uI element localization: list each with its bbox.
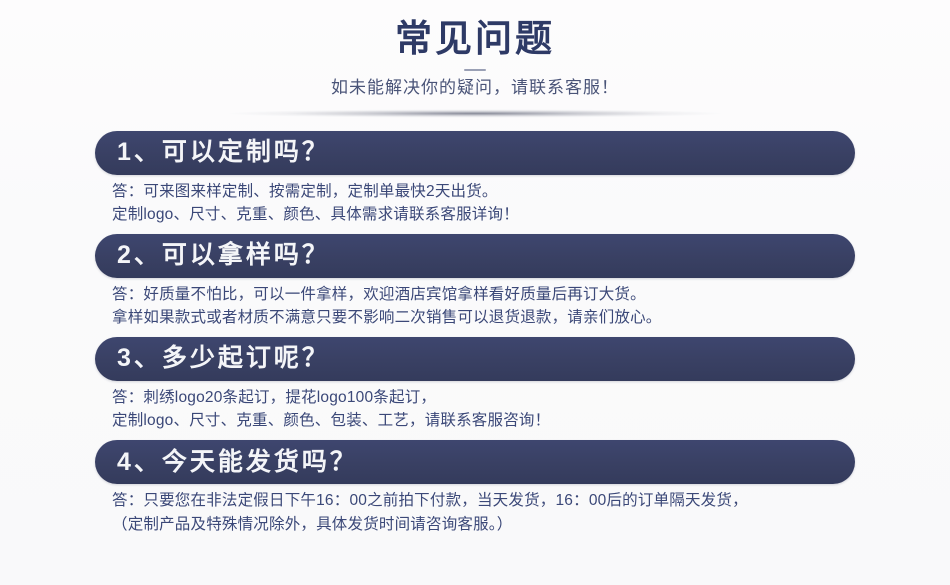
faq-answer-line: 定制logo、尺寸、克重、颜色、包装、工艺，请联系客服咨询！	[112, 409, 855, 433]
faq-answer: 答：刺绣logo20条起订，提花logo100条起订， 定制logo、尺寸、克重…	[95, 381, 855, 433]
faq-answer-line: 答：可来图来样定制、按需定制，定制单最快2天出货。	[112, 180, 855, 204]
faq-answer: 答：可来图来样定制、按需定制，定制单最快2天出货。 定制logo、尺寸、克重、颜…	[95, 175, 855, 227]
faq-list: 1、可以定制吗？ 答：可来图来样定制、按需定制，定制单最快2天出货。 定制log…	[0, 131, 950, 536]
faq-page: 常见问题 如未能解决你的疑问，请联系客服！ 1、可以定制吗？ 答：可来图来样定制…	[0, 0, 950, 585]
faq-answer-line: （定制产品及特殊情况除外，具体发货时间请咨询客服。）	[112, 513, 855, 537]
faq-question-text: 3、多少起订呢？	[117, 346, 330, 371]
faq-item: 4、今天能发货吗？ 答：只要您在非法定假日下午16：00之前拍下付款，当天发货，…	[95, 440, 855, 536]
faq-answer: 答：只要您在非法定假日下午16：00之前拍下付款，当天发货，16：00后的订单隔…	[95, 484, 855, 536]
faq-question-bar[interactable]: 4、今天能发货吗？	[95, 440, 855, 484]
title-divider-dash	[464, 69, 486, 71]
faq-item: 1、可以定制吗？ 答：可来图来样定制、按需定制，定制单最快2天出货。 定制log…	[95, 131, 855, 227]
faq-question-text: 1、可以定制吗？	[117, 140, 330, 165]
faq-item: 3、多少起订呢？ 答：刺绣logo20条起订，提花logo100条起订， 定制l…	[95, 337, 855, 433]
faq-question-bar[interactable]: 1、可以定制吗？	[95, 131, 855, 175]
faq-question-bar[interactable]: 3、多少起订呢？	[95, 337, 855, 381]
faq-answer-line: 答：刺绣logo20条起订，提花logo100条起订，	[112, 386, 855, 410]
page-header: 常见问题 如未能解决你的疑问，请联系客服！	[0, 0, 950, 118]
header-divider-line	[165, 109, 785, 118]
faq-answer-line: 拿样如果款式或者材质不满意只要不影响二次销售可以退货退款，请亲们放心。	[112, 306, 855, 330]
faq-answer-line: 定制logo、尺寸、克重、颜色、具体需求请联系客服详询！	[112, 203, 855, 227]
faq-item: 2、可以拿样吗？ 答：好质量不怕比，可以一件拿样，欢迎酒店宾馆拿样看好质量后再订…	[95, 234, 855, 330]
faq-answer-line: 答：好质量不怕比，可以一件拿样，欢迎酒店宾馆拿样看好质量后再订大货。	[112, 283, 855, 307]
page-subtitle: 如未能解决你的疑问，请联系客服！	[0, 75, 950, 101]
faq-question-text: 2、可以拿样吗？	[117, 243, 330, 268]
faq-answer: 答：好质量不怕比，可以一件拿样，欢迎酒店宾馆拿样看好质量后再订大货。 拿样如果款…	[95, 278, 855, 330]
faq-answer-line: 答：只要您在非法定假日下午16：00之前拍下付款，当天发货，16：00后的订单隔…	[112, 489, 855, 513]
page-title: 常见问题	[0, 16, 950, 62]
faq-question-bar[interactable]: 2、可以拿样吗？	[95, 234, 855, 278]
faq-question-text: 4、今天能发货吗？	[117, 450, 358, 475]
